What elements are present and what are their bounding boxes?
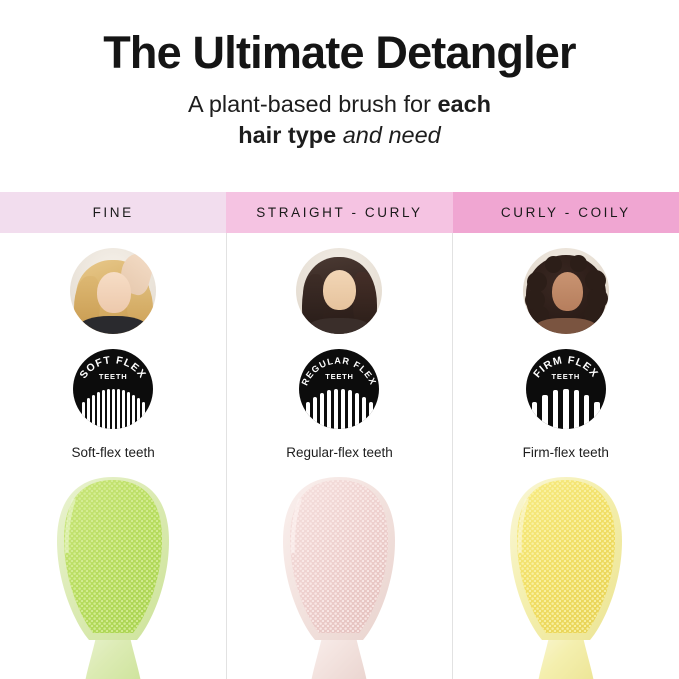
comb-tooth [574,390,579,429]
model-curl [545,256,562,273]
model-shoulders [535,318,597,334]
model-face [97,272,131,313]
model-curl [570,255,587,272]
comb-tooth [97,392,100,429]
comb-tooth [142,402,145,429]
comb-tooth [137,398,140,429]
subtitle-italic-and-need: and need [336,122,441,148]
comb-tooth [553,390,558,429]
badge-comb-teeth [299,383,379,429]
page-subtitle: A plant-based brush for each hair type a… [105,89,575,151]
comb-tooth [348,390,352,429]
regular-flex-teeth-badge: REGULAR FLEX TEETH [299,349,379,429]
comb-tooth [542,395,547,429]
column-straight-curly: REGULAR FLEX TEETH Regular-flex teeth [226,233,452,679]
comb-tooth [87,398,90,429]
subtitle-bold-each: each [437,91,491,117]
comb-tooth [594,402,599,429]
band-fine: FINE [0,192,226,233]
subtitle-text-1: A plant-based brush for [188,91,438,117]
comb-tooth [122,390,125,429]
avatar-curly-coily-hair-model [523,248,609,334]
pink-detangler-brush [264,477,414,679]
badge-subtext-teeth: TEETH [299,372,379,381]
caption-firm-flex-teeth: Firm-flex teeth [453,445,679,460]
comb-tooth [127,392,130,429]
model-face [552,272,583,311]
firm-flex-teeth-badge: FIRM FLEX TEETH [526,349,606,429]
badge-wrap-straight-curly: REGULAR FLEX TEETH [226,349,452,429]
column-fine: SOFT FLEX TEETH Soft-flex teeth [0,233,226,679]
subtitle-bold-hair-type: hair type [238,122,336,148]
comb-tooth [532,402,537,429]
comb-tooth [327,390,331,429]
comb-tooth [355,393,359,429]
column-header-bands: FINE STRAIGHT - CURLY CURLY - COILY [0,192,679,233]
comparison-grid: SOFT FLEX TEETH Soft-flex teeth [0,233,679,679]
comb-tooth [306,402,310,429]
comb-tooth [320,393,324,429]
badge-wrap-curly-coily: FIRM FLEX TEETH [453,349,679,429]
comb-tooth [334,389,338,429]
hero-section: The Ultimate Detangler A plant-based bru… [0,0,679,151]
avatar-wrap-straight-curly [226,248,452,334]
comb-tooth [369,402,373,429]
band-curly-coily: CURLY - COILY [453,192,679,233]
comb-tooth [117,389,120,429]
column-curly-coily: FIRM FLEX TEETH Firm-flex teeth [453,233,679,679]
green-detangler-brush [38,477,188,679]
avatar-wrap-fine [0,248,226,334]
comb-tooth [112,389,115,429]
comb-tooth [107,389,110,429]
band-straight-curly: STRAIGHT - CURLY [226,192,452,233]
badge-comb-teeth [73,383,153,429]
comb-tooth [313,397,317,429]
caption-regular-flex-teeth: Regular-flex teeth [226,445,452,460]
band-label-fine: FINE [93,205,134,220]
column-divider-1 [226,233,227,679]
avatar-wrap-curly-coily [453,248,679,334]
comb-tooth [362,397,366,429]
model-curl [527,272,547,292]
soft-flex-teeth-badge: SOFT FLEX TEETH [73,349,153,429]
comb-tooth [132,395,135,429]
badge-comb-teeth [526,383,606,429]
caption-soft-flex-teeth: Soft-flex teeth [0,445,226,460]
avatar-fine-hair-model [70,248,156,334]
avatar-straight-curly-hair-model [296,248,382,334]
column-divider-2 [452,233,453,679]
band-label-straight-curly: STRAIGHT - CURLY [256,205,422,220]
page-title: The Ultimate Detangler [0,30,679,75]
badge-subtext-teeth: TEETH [73,372,153,381]
band-label-curly-coily: CURLY - COILY [501,205,631,220]
badge-wrap-fine: SOFT FLEX TEETH [0,349,226,429]
model-shoulders [80,316,146,334]
comb-tooth [341,389,345,429]
yellow-detangler-brush [491,477,641,679]
comb-tooth [584,395,589,429]
comb-tooth [563,389,568,429]
model-face [323,270,356,310]
comb-tooth [92,395,95,429]
model-shoulders [308,318,370,334]
comb-tooth [102,390,105,429]
comb-tooth [82,402,85,429]
badge-subtext-teeth: TEETH [526,372,606,381]
